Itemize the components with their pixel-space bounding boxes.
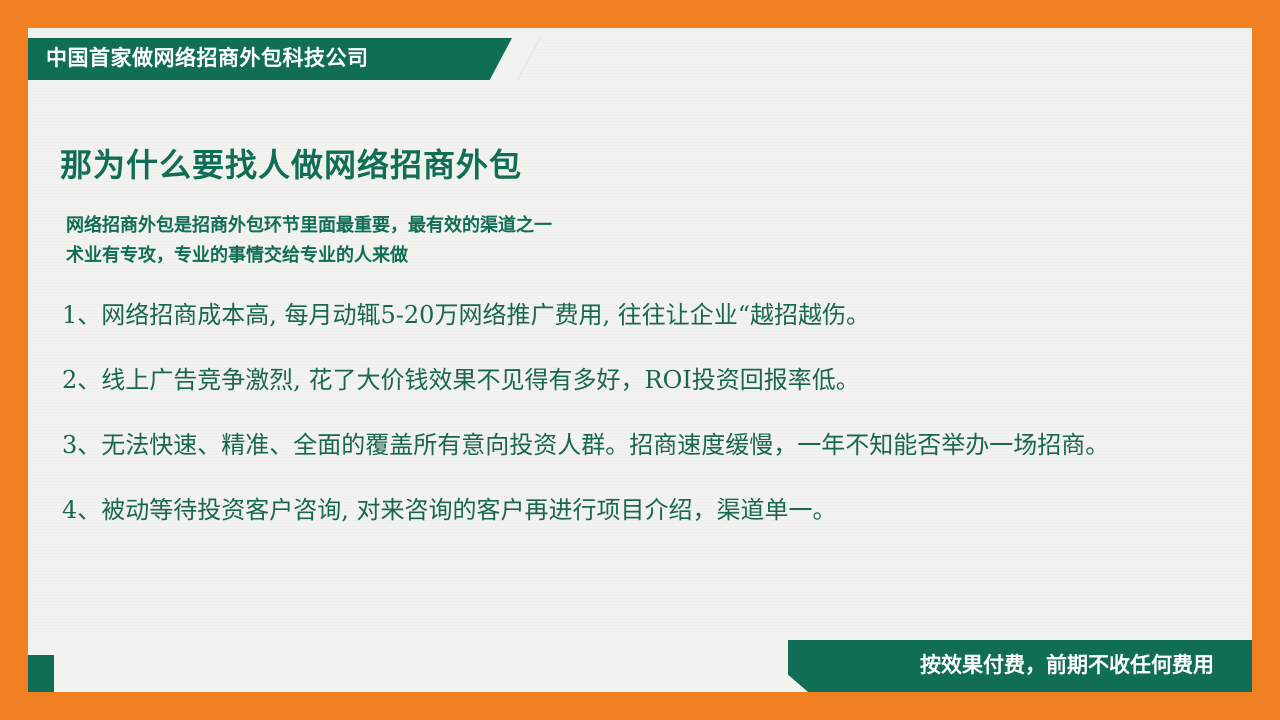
bottom-bar-diagonal	[748, 640, 808, 692]
subtitle-line-2: 术业有专攻，专业的事情交给专业的人来做	[66, 240, 552, 270]
slide-title: 那为什么要找人做网络招商外包	[60, 140, 522, 186]
list-item: 1、网络招商成本高, 每月动辄5-20万网络推广费用, 往往让企业“越招越伤。	[62, 295, 1202, 335]
bottom-bar-cutout	[28, 640, 788, 692]
bottom-bar-left-tab	[28, 655, 54, 692]
list-item: 4、被动等待投资客户咨询, 对来咨询的客户再进行项目介绍，渠道单一。	[62, 490, 1202, 530]
slide-subtitle: 网络招商外包是招商外包环节里面最重要，最有效的渠道之一 术业有专攻，专业的事情交…	[66, 210, 552, 270]
list-item: 2、线上广告竞争激烈, 花了大价钱效果不见得有多好，ROI投资回报率低。	[62, 360, 1202, 400]
slide: 中国首家做网络招商外包科技公司 那为什么要找人做网络招商外包 网络招商外包是招商…	[0, 0, 1280, 720]
body-list: 1、网络招商成本高, 每月动辄5-20万网络推广费用, 往往让企业“越招越伤。 …	[62, 295, 1202, 555]
list-item: 3、无法快速、精准、全面的覆盖所有意向投资人群。招商速度缓慢，一年不知能否举办一…	[62, 425, 1202, 465]
subtitle-line-1: 网络招商外包是招商外包环节里面最重要，最有效的渠道之一	[66, 210, 552, 240]
bottom-bar-label: 按效果付费，前期不收任何费用	[920, 652, 1214, 680]
top-banner-label: 中国首家做网络招商外包科技公司	[46, 46, 486, 72]
